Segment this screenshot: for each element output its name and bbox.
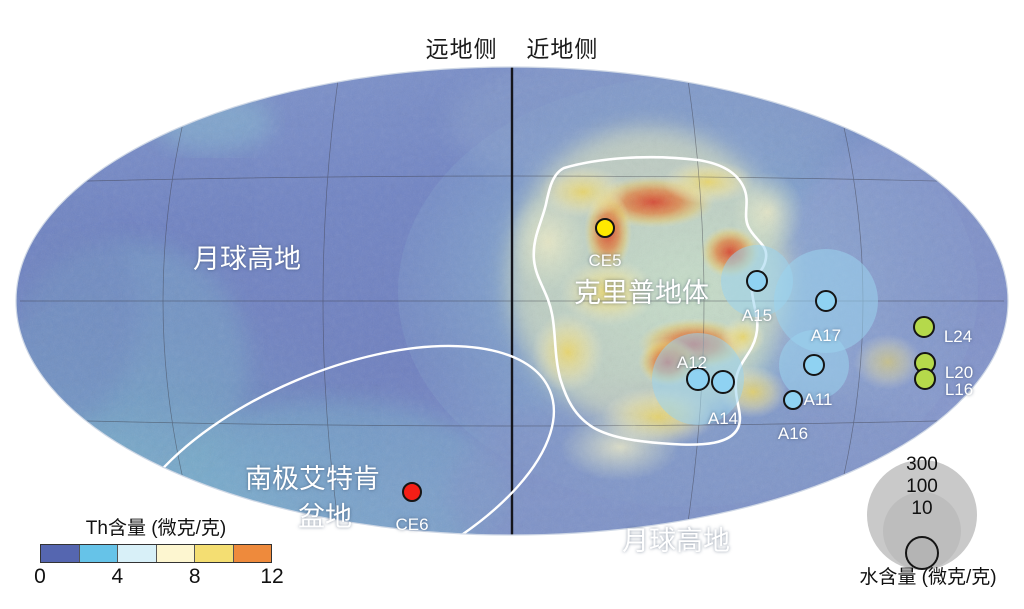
water-legend-title: 水含量 (微克/克) [838,562,1018,589]
figure-canvas: 远地侧 近地侧 [0,0,1024,609]
water-label-300: 300 [906,454,938,476]
annotation-lunar-highlands-nearside: 月球高地 [622,519,730,558]
site-marker-ce6[interactable] [402,482,422,502]
site-label-a16: A16 [778,424,808,444]
th-colorbar-segment-4 [195,545,234,562]
site-label-a11: A11 [804,390,833,410]
water-label-10: 10 [911,498,932,520]
site-label-a15: A15 [742,306,772,326]
site-label-l24: L24 [944,327,972,347]
site-marker-l16[interactable] [914,368,936,390]
site-marker-a14[interactable] [711,370,735,394]
th-colorbar-title: Th含量 (微克/克) [40,513,272,540]
th-tick-4: 4 [111,565,123,589]
site-label-ce6: CE6 [395,515,428,535]
water-label-100: 100 [906,476,938,498]
near-side-label: 近地侧 [526,30,598,64]
th-colorbar-segment-2 [118,545,157,562]
site-label-ce5: CE5 [588,251,621,271]
th-colorbar: Th含量 (微克/克) 04812 [40,513,272,589]
site-marker-a15[interactable] [746,270,768,292]
annotation-spa-basin-line1: 南极艾特肯 [245,457,380,496]
th-colorbar-ticks: 04812 [40,563,272,589]
site-marker-l24[interactable] [913,316,935,338]
annotation-lunar-highlands-farside: 月球高地 [193,237,301,276]
th-tick-8: 8 [189,565,201,589]
site-marker-a16[interactable] [783,390,803,410]
site-label-a14: A14 [708,409,738,429]
th-colorbar-segment-3 [157,545,196,562]
site-marker-a17[interactable] [815,290,837,312]
annotation-kreep-terrane: 克里普地体 [574,271,709,310]
site-label-l16: L16 [945,380,973,400]
th-colorbar-segment-5 [234,545,272,562]
th-colorbar-gradient [40,544,272,563]
site-label-a12: A12 [677,353,707,373]
far-side-label: 远地侧 [426,30,498,64]
site-label-a17: A17 [811,326,841,346]
site-marker-ce5[interactable] [595,218,615,238]
hemisphere-labels: 远地侧 近地侧 [0,30,1024,64]
th-tick-0: 0 [34,565,46,589]
site-marker-a11[interactable] [803,354,825,376]
th-colorbar-segment-1 [80,545,119,562]
annotation-spa-basin-line2: 盆地 [298,495,352,534]
th-colorbar-segment-0 [41,545,80,562]
th-tick-12: 12 [260,565,283,589]
